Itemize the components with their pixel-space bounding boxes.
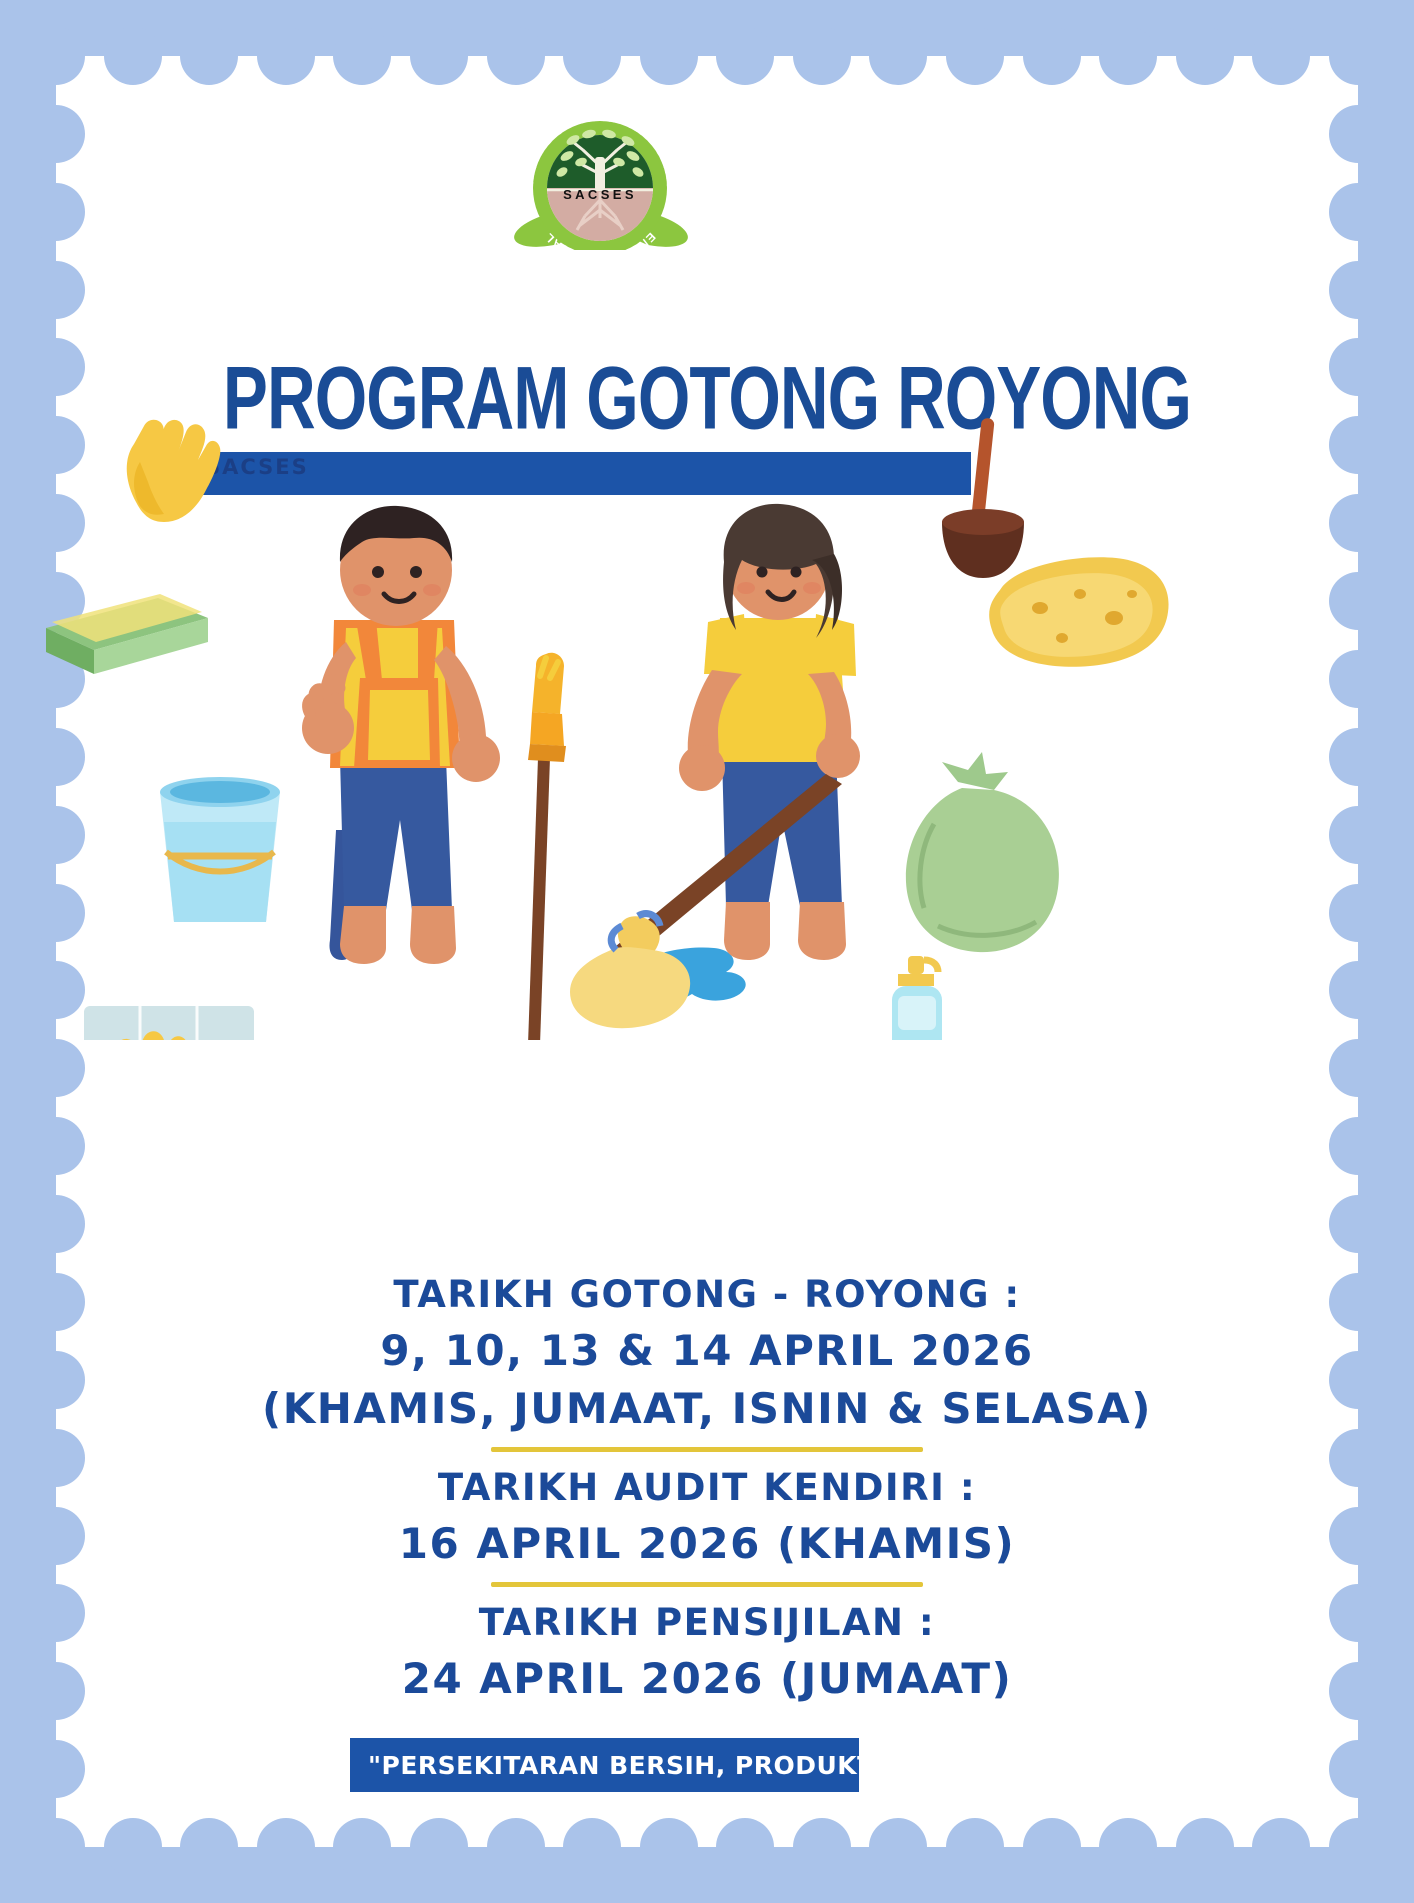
border-notch [257,27,315,85]
border-notch [1023,27,1081,85]
border-notch [563,1818,621,1876]
blue-bucket-icon [160,777,280,922]
event-info-block: TARIKH GOTONG - ROYONG : 9, 10, 13 & 14 … [0,1268,1414,1708]
bathroom-tile-with-glove-icon [84,1006,254,1040]
border-notch [257,1818,315,1876]
border-notch [946,1818,1004,1876]
border-notch [1329,105,1387,163]
border-notch [716,27,774,85]
soap-dispenser-bottle-icon [892,956,942,1040]
border-notch [1252,27,1310,85]
border-notch [180,27,238,85]
border-notch [1329,261,1387,319]
audit-label: TARIKH AUDIT KENDIRI : [0,1461,1414,1515]
border-notch [1329,27,1387,85]
border-notch [487,27,545,85]
border-notch [716,1818,774,1876]
border-notch [1176,27,1234,85]
border-notch [410,27,468,85]
green-garbage-bag-icon [906,752,1059,952]
border-notch [333,27,391,85]
poster-canvas: SACSES STANDARD SARAWAK CIVIL SERVICE EN… [0,0,1414,1903]
border-notch [27,1818,85,1876]
broom-icon [526,653,566,1040]
border-notch [1099,1818,1157,1876]
pensijilan-label: TARIKH PENSIJILAN : [0,1596,1414,1650]
border-notch [946,27,1004,85]
tagline-text: "PERSEKITARAN BERSIH, PRODUKTIVITI MENIN… [350,1751,859,1780]
border-notch [1329,1039,1387,1097]
border-notch [333,1818,391,1876]
border-notch [1252,1818,1310,1876]
border-notch [487,1818,545,1876]
border-notch [27,1195,85,1253]
border-notch [1099,27,1157,85]
boy-with-broom-figure [302,506,500,964]
border-notch [1329,183,1387,241]
green-scrub-sponge-icon [46,594,208,674]
border-notch [27,1117,85,1175]
sacses-logo: SACSES STANDARD SARAWAK CIVIL SERVICE EN… [497,100,703,250]
pensijilan-date: 24 APRIL 2026 (JUMAAT) [0,1650,1414,1708]
border-notch [1176,1818,1234,1876]
tagline-banner: "PERSEKITARAN BERSIH, PRODUKTIVITI MENIN… [350,1738,859,1792]
divider-2 [491,1582,923,1587]
toilet-plunger-icon [942,418,1024,578]
border-notch [793,27,851,85]
audit-date: 16 APRIL 2026 (KHAMIS) [0,1515,1414,1573]
border-notch [27,105,85,163]
gotong-royong-days: (KHAMIS, JUMAAT, ISNIN & SELASA) [0,1380,1414,1438]
border-notch [410,1818,468,1876]
border-notch [27,1740,85,1798]
border-notch [1329,1195,1387,1253]
border-notch [180,1818,238,1876]
gotong-royong-date: 9, 10, 13 & 14 APRIL 2026 [0,1322,1414,1380]
border-notch [869,1818,927,1876]
border-notch [104,1818,162,1876]
logo-center-text: SACSES [563,187,637,202]
yellow-sponge-icon [989,557,1168,667]
border-notch [27,261,85,319]
border-notch [1329,1117,1387,1175]
border-notch [27,1039,85,1097]
border-notch [640,1818,698,1876]
illustration-scene [0,380,1414,1040]
border-notch [1329,1818,1387,1876]
border-notch [793,1818,851,1876]
border-notch [563,27,621,85]
border-notch [640,27,698,85]
border-notch [1023,1818,1081,1876]
border-notch [27,27,85,85]
border-notch [104,27,162,85]
yellow-rubber-gloves-icon [127,420,221,522]
border-notch [27,183,85,241]
divider-1 [491,1447,923,1452]
gotong-royong-label: TARIKH GOTONG - ROYONG : [0,1268,1414,1322]
border-notch [1329,1740,1387,1798]
